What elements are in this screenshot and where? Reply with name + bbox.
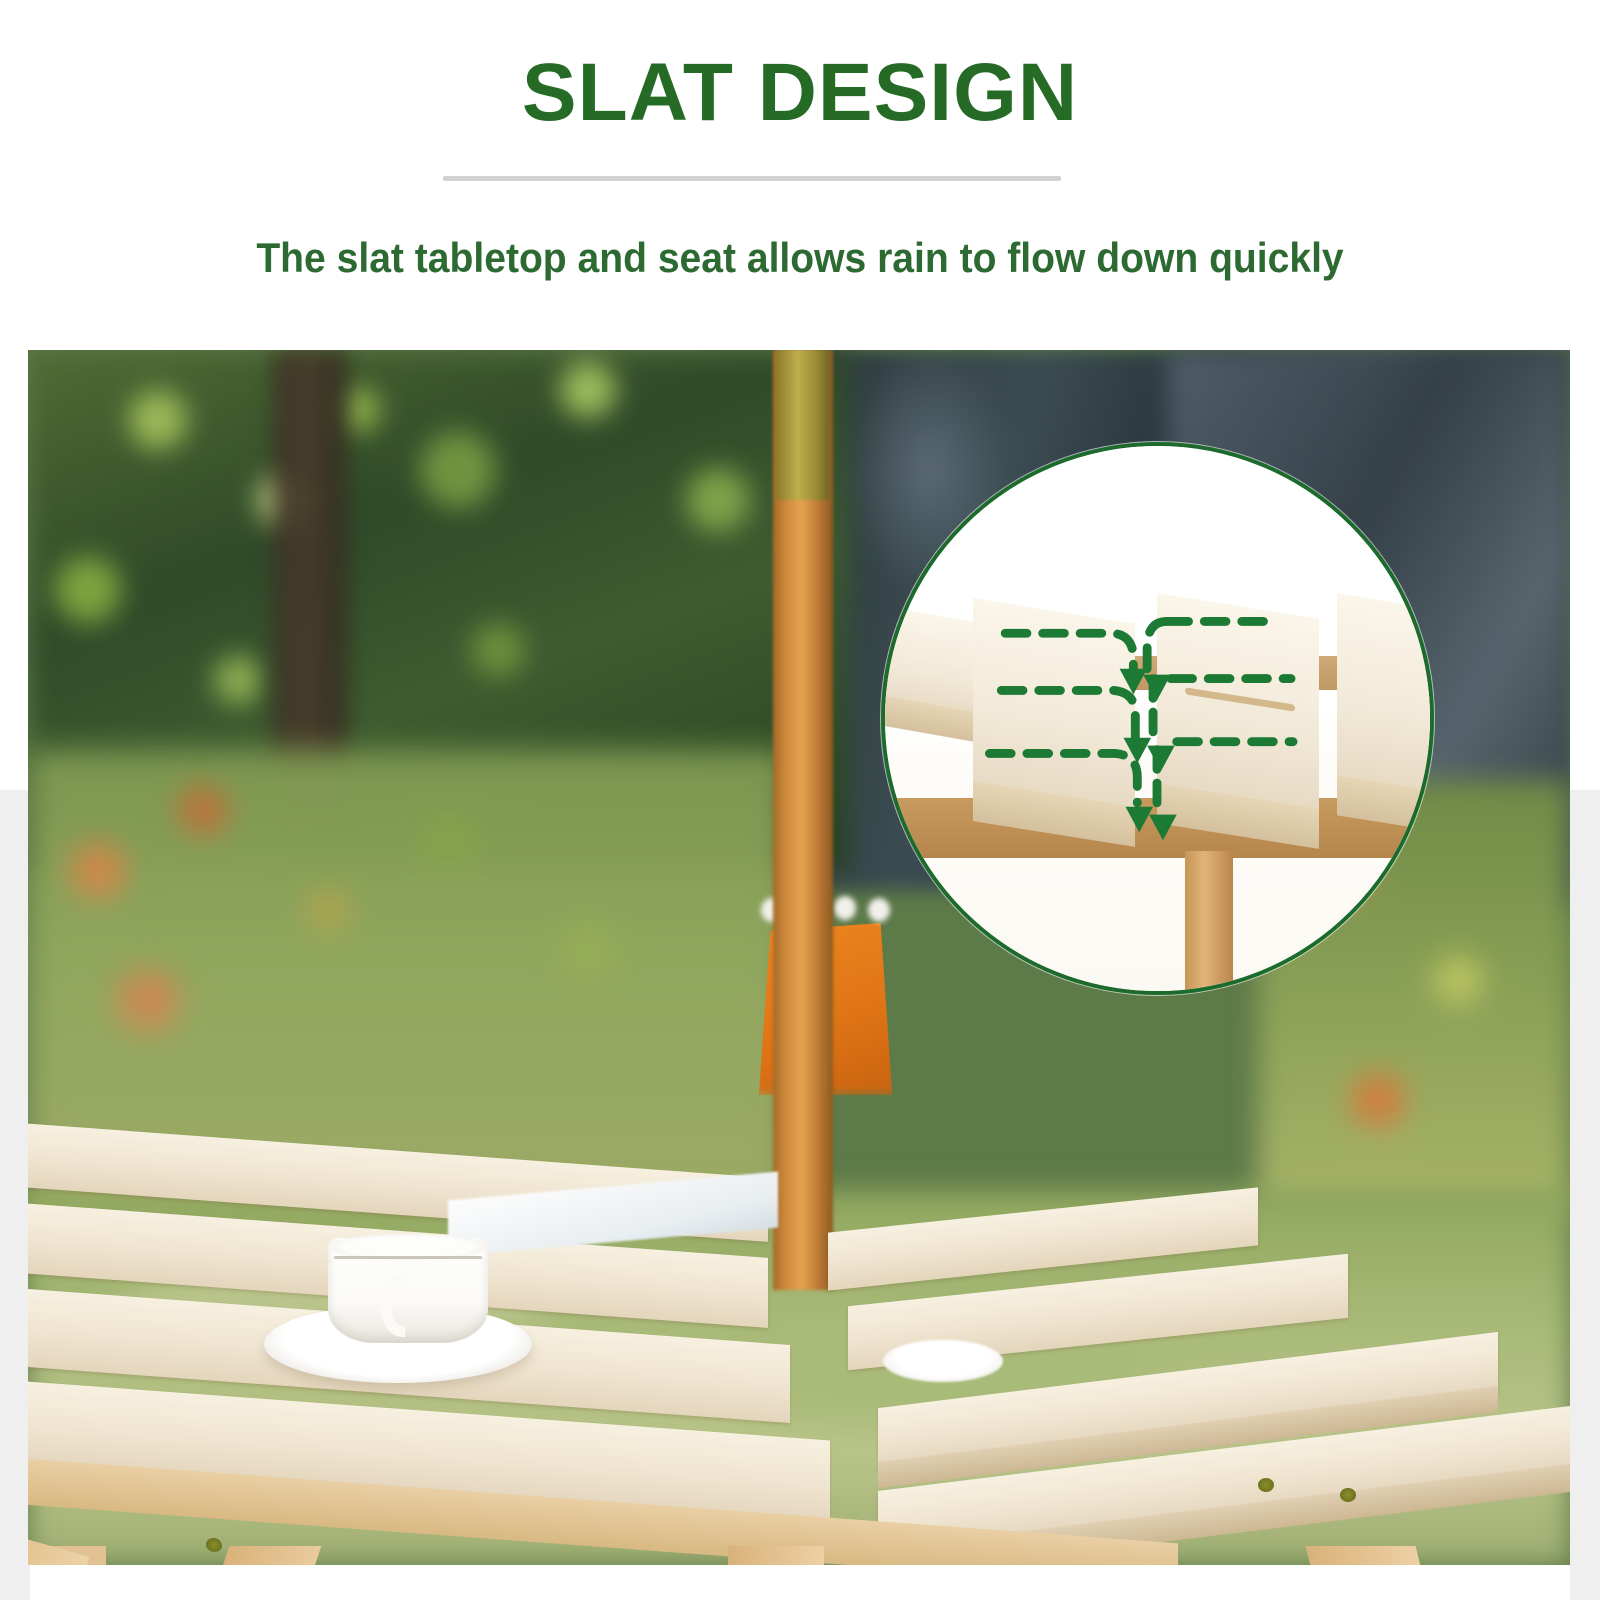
magnifier-circle	[881, 442, 1434, 995]
leg-left-a	[223, 1546, 321, 1565]
title-divider-rule	[443, 176, 1061, 181]
screw-right-b	[1340, 1488, 1356, 1502]
screw-right-a	[1258, 1478, 1274, 1492]
left-page-gutter	[0, 790, 30, 1600]
second-saucer	[883, 1340, 1003, 1382]
arrow-down-6	[1149, 815, 1177, 841]
right-page-gutter	[1570, 790, 1600, 1600]
leg-left-brace	[28, 1524, 89, 1565]
leg-right-a	[1306, 1546, 1421, 1565]
water-flow-arrows	[885, 446, 1430, 991]
leg-center	[728, 1546, 824, 1565]
magnifier-content	[885, 446, 1430, 991]
header-section: SLAT DESIGN The slat tabletop and seat a…	[0, 0, 1600, 350]
screw-left	[206, 1537, 222, 1552]
teacup-gold-line	[334, 1256, 482, 1259]
arrow-down-2	[1123, 738, 1151, 764]
product-photo	[28, 350, 1570, 1565]
arrow-down-3	[1125, 807, 1153, 833]
page-subtitle: The slat tabletop and seat allows rain t…	[56, 234, 1544, 282]
page-title: SLAT DESIGN	[0, 52, 1600, 134]
